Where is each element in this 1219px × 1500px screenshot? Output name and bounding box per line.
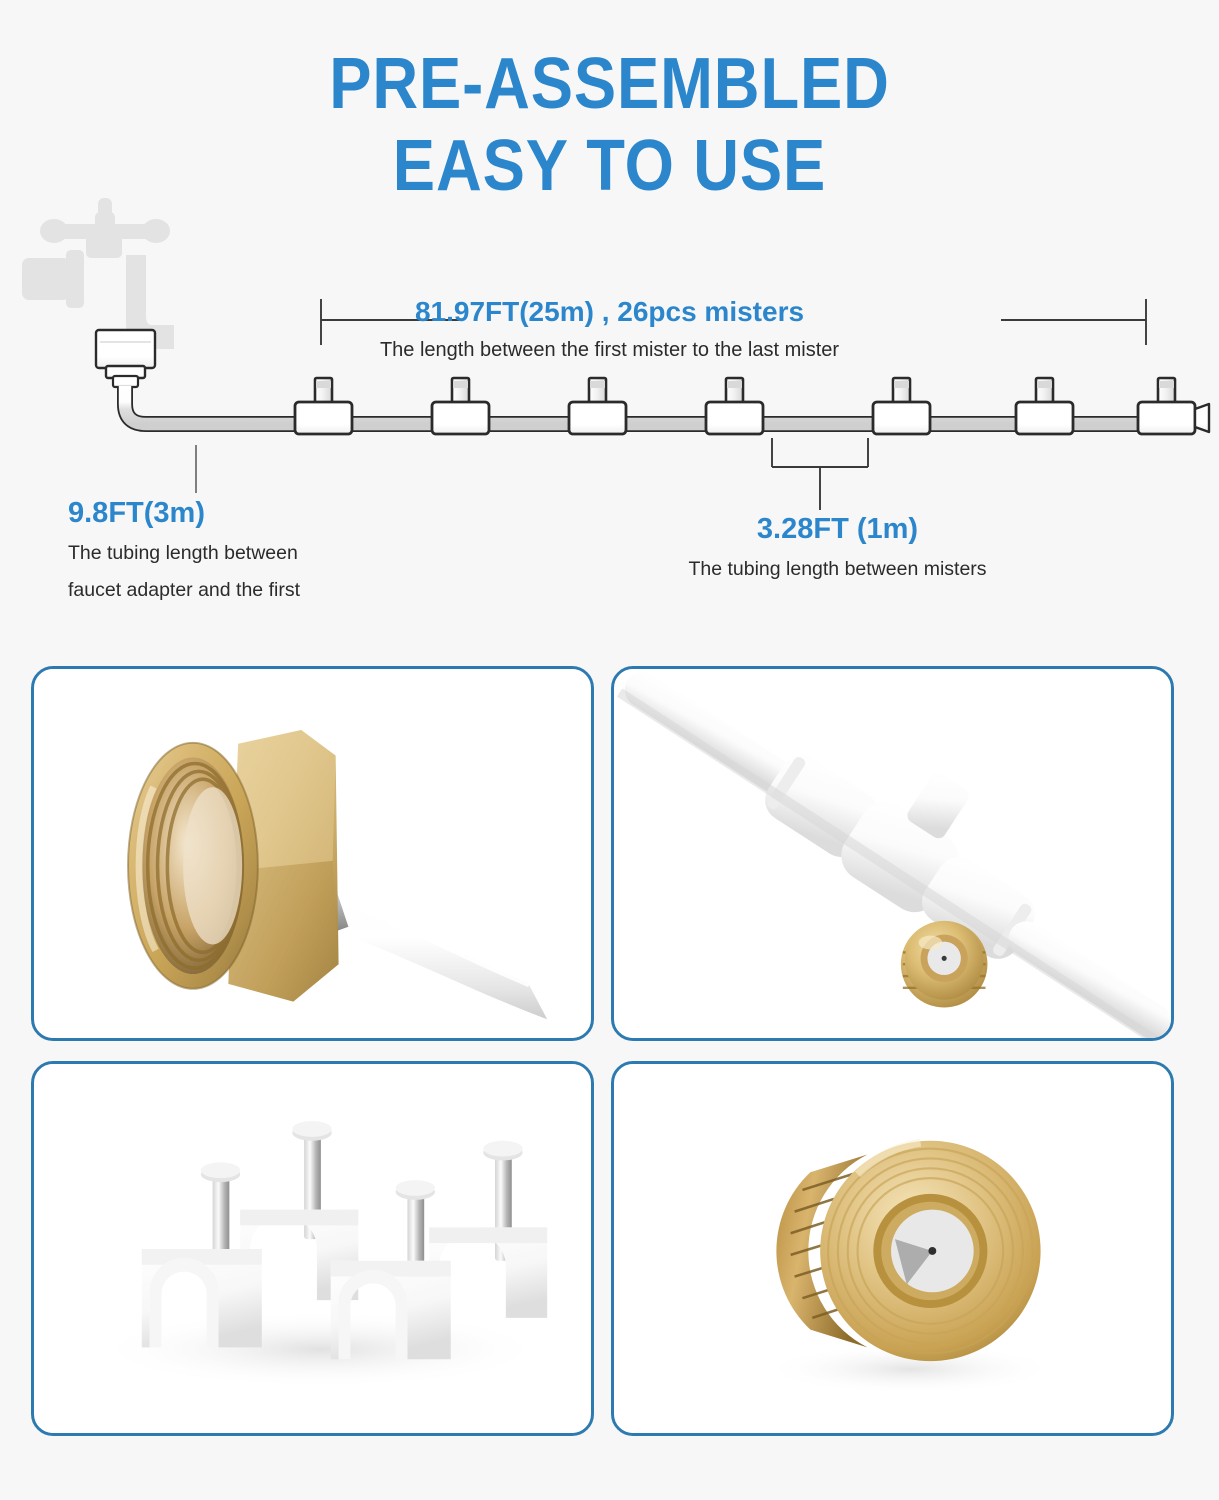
annotation-lead-length: 9.8FT(3m) The tubing length between fauc…	[68, 497, 300, 603]
annotation-lead-length-description-line1: The tubing length between	[68, 540, 300, 566]
mister-tee	[873, 378, 930, 434]
card-cable-clips-with-nails	[31, 1061, 594, 1436]
annotation-total-length-description: The length between the first mister to t…	[0, 337, 1219, 364]
annotation-total-length-value: 81.97FT(25m) , 26pcs misters	[0, 296, 1219, 328]
mister-tee	[1016, 378, 1073, 434]
annotation-spacing: 3.28FT (1m) The tubing length between mi…	[655, 513, 1020, 583]
mister-tee-last	[1138, 378, 1195, 434]
annotation-lead-length-value: 9.8FT(3m)	[68, 497, 300, 530]
mister-tee	[295, 378, 352, 434]
card-brass-faucet-adapter	[31, 666, 594, 1041]
card-brass-misting-nozzle-closeup	[611, 1061, 1174, 1436]
mister-tee	[706, 378, 763, 434]
mister-tee	[569, 378, 626, 434]
card-mister-nozzle-tee-connector	[611, 666, 1174, 1041]
nozzle-orifice	[928, 1247, 936, 1255]
annotation-total-length: 81.97FT(25m) , 26pcs misters The length …	[0, 296, 1219, 364]
brass-nozzle-icon	[901, 921, 988, 1008]
annotation-spacing-description: The tubing length between misters	[655, 556, 1020, 582]
annotation-lead-length-description-line2: faucet adapter and the first	[68, 577, 300, 603]
end-cap-icon	[1195, 404, 1209, 432]
mister-tee	[432, 378, 489, 434]
product-photo-grid	[31, 666, 1189, 1441]
misting-system-diagram: 81.97FT(25m) , 26pcs misters The length …	[0, 0, 1219, 640]
middle-bracket	[772, 438, 868, 510]
annotation-spacing-value: 3.28FT (1m)	[655, 513, 1020, 546]
